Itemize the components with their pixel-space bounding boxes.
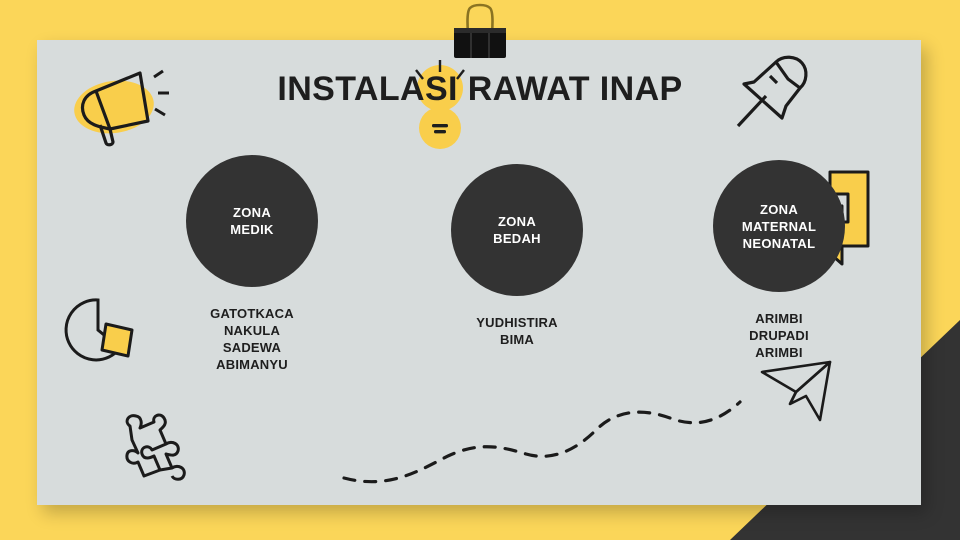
slide-canvas: INSTALASI RAWAT INAP <box>0 0 960 540</box>
zone-medik-circle: ZONA MEDIK <box>186 155 318 287</box>
zone-medik: ZONA MEDIK GATOTKACA NAKULA SADEWA ABIMA… <box>112 155 392 373</box>
zone-bedah-circle: ZONA BEDAH <box>451 164 583 296</box>
zone-bedah-line-2: BEDAH <box>493 230 541 247</box>
zone-maternal-name-3: ARIMBI <box>639 344 919 361</box>
zone-maternal-name-1: ARIMBI <box>639 310 919 327</box>
zone-medik-name-3: SADEWA <box>112 339 392 356</box>
zone-bedah-name-2: BIMA <box>377 331 657 348</box>
puzzle-piece-icon <box>118 410 206 488</box>
zone-bedah: ZONA BEDAH YUDHISTIRA BIMA <box>377 164 657 348</box>
zone-bedah-line-1: ZONA <box>498 213 536 230</box>
zone-medik-name-4: ABIMANYU <box>112 356 392 373</box>
binder-clip-icon <box>444 2 516 60</box>
zone-maternal-line-1: ZONA <box>760 201 798 218</box>
zones-container: ZONA MEDIK GATOTKACA NAKULA SADEWA ABIMA… <box>37 150 921 380</box>
zone-maternal-line-2: MATERNAL <box>742 218 816 235</box>
zone-bedah-names: YUDHISTIRA BIMA <box>377 314 657 348</box>
zone-medik-name-1: GATOTKACA <box>112 305 392 322</box>
zone-medik-line-2: MEDIK <box>230 221 273 238</box>
zone-bedah-name-1: YUDHISTIRA <box>377 314 657 331</box>
pushpin-icon <box>730 52 816 134</box>
zone-medik-names: GATOTKACA NAKULA SADEWA ABIMANYU <box>112 305 392 373</box>
zone-maternal-names: ARIMBI DRUPADI ARIMBI <box>639 310 919 361</box>
zone-medik-line-1: ZONA <box>233 204 271 221</box>
zone-maternal-neonatal-circle: ZONA MATERNAL NEONATAL <box>713 160 845 292</box>
zone-maternal-name-2: DRUPADI <box>639 327 919 344</box>
zone-maternal-line-3: NEONATAL <box>743 235 816 252</box>
megaphone-icon <box>62 55 174 147</box>
zone-medik-name-2: NAKULA <box>112 322 392 339</box>
page-title: INSTALASI RAWAT INAP <box>277 70 682 109</box>
zone-maternal-neonatal: ZONA MATERNAL NEONATAL ARIMBI DRUPADI AR… <box>639 160 919 361</box>
